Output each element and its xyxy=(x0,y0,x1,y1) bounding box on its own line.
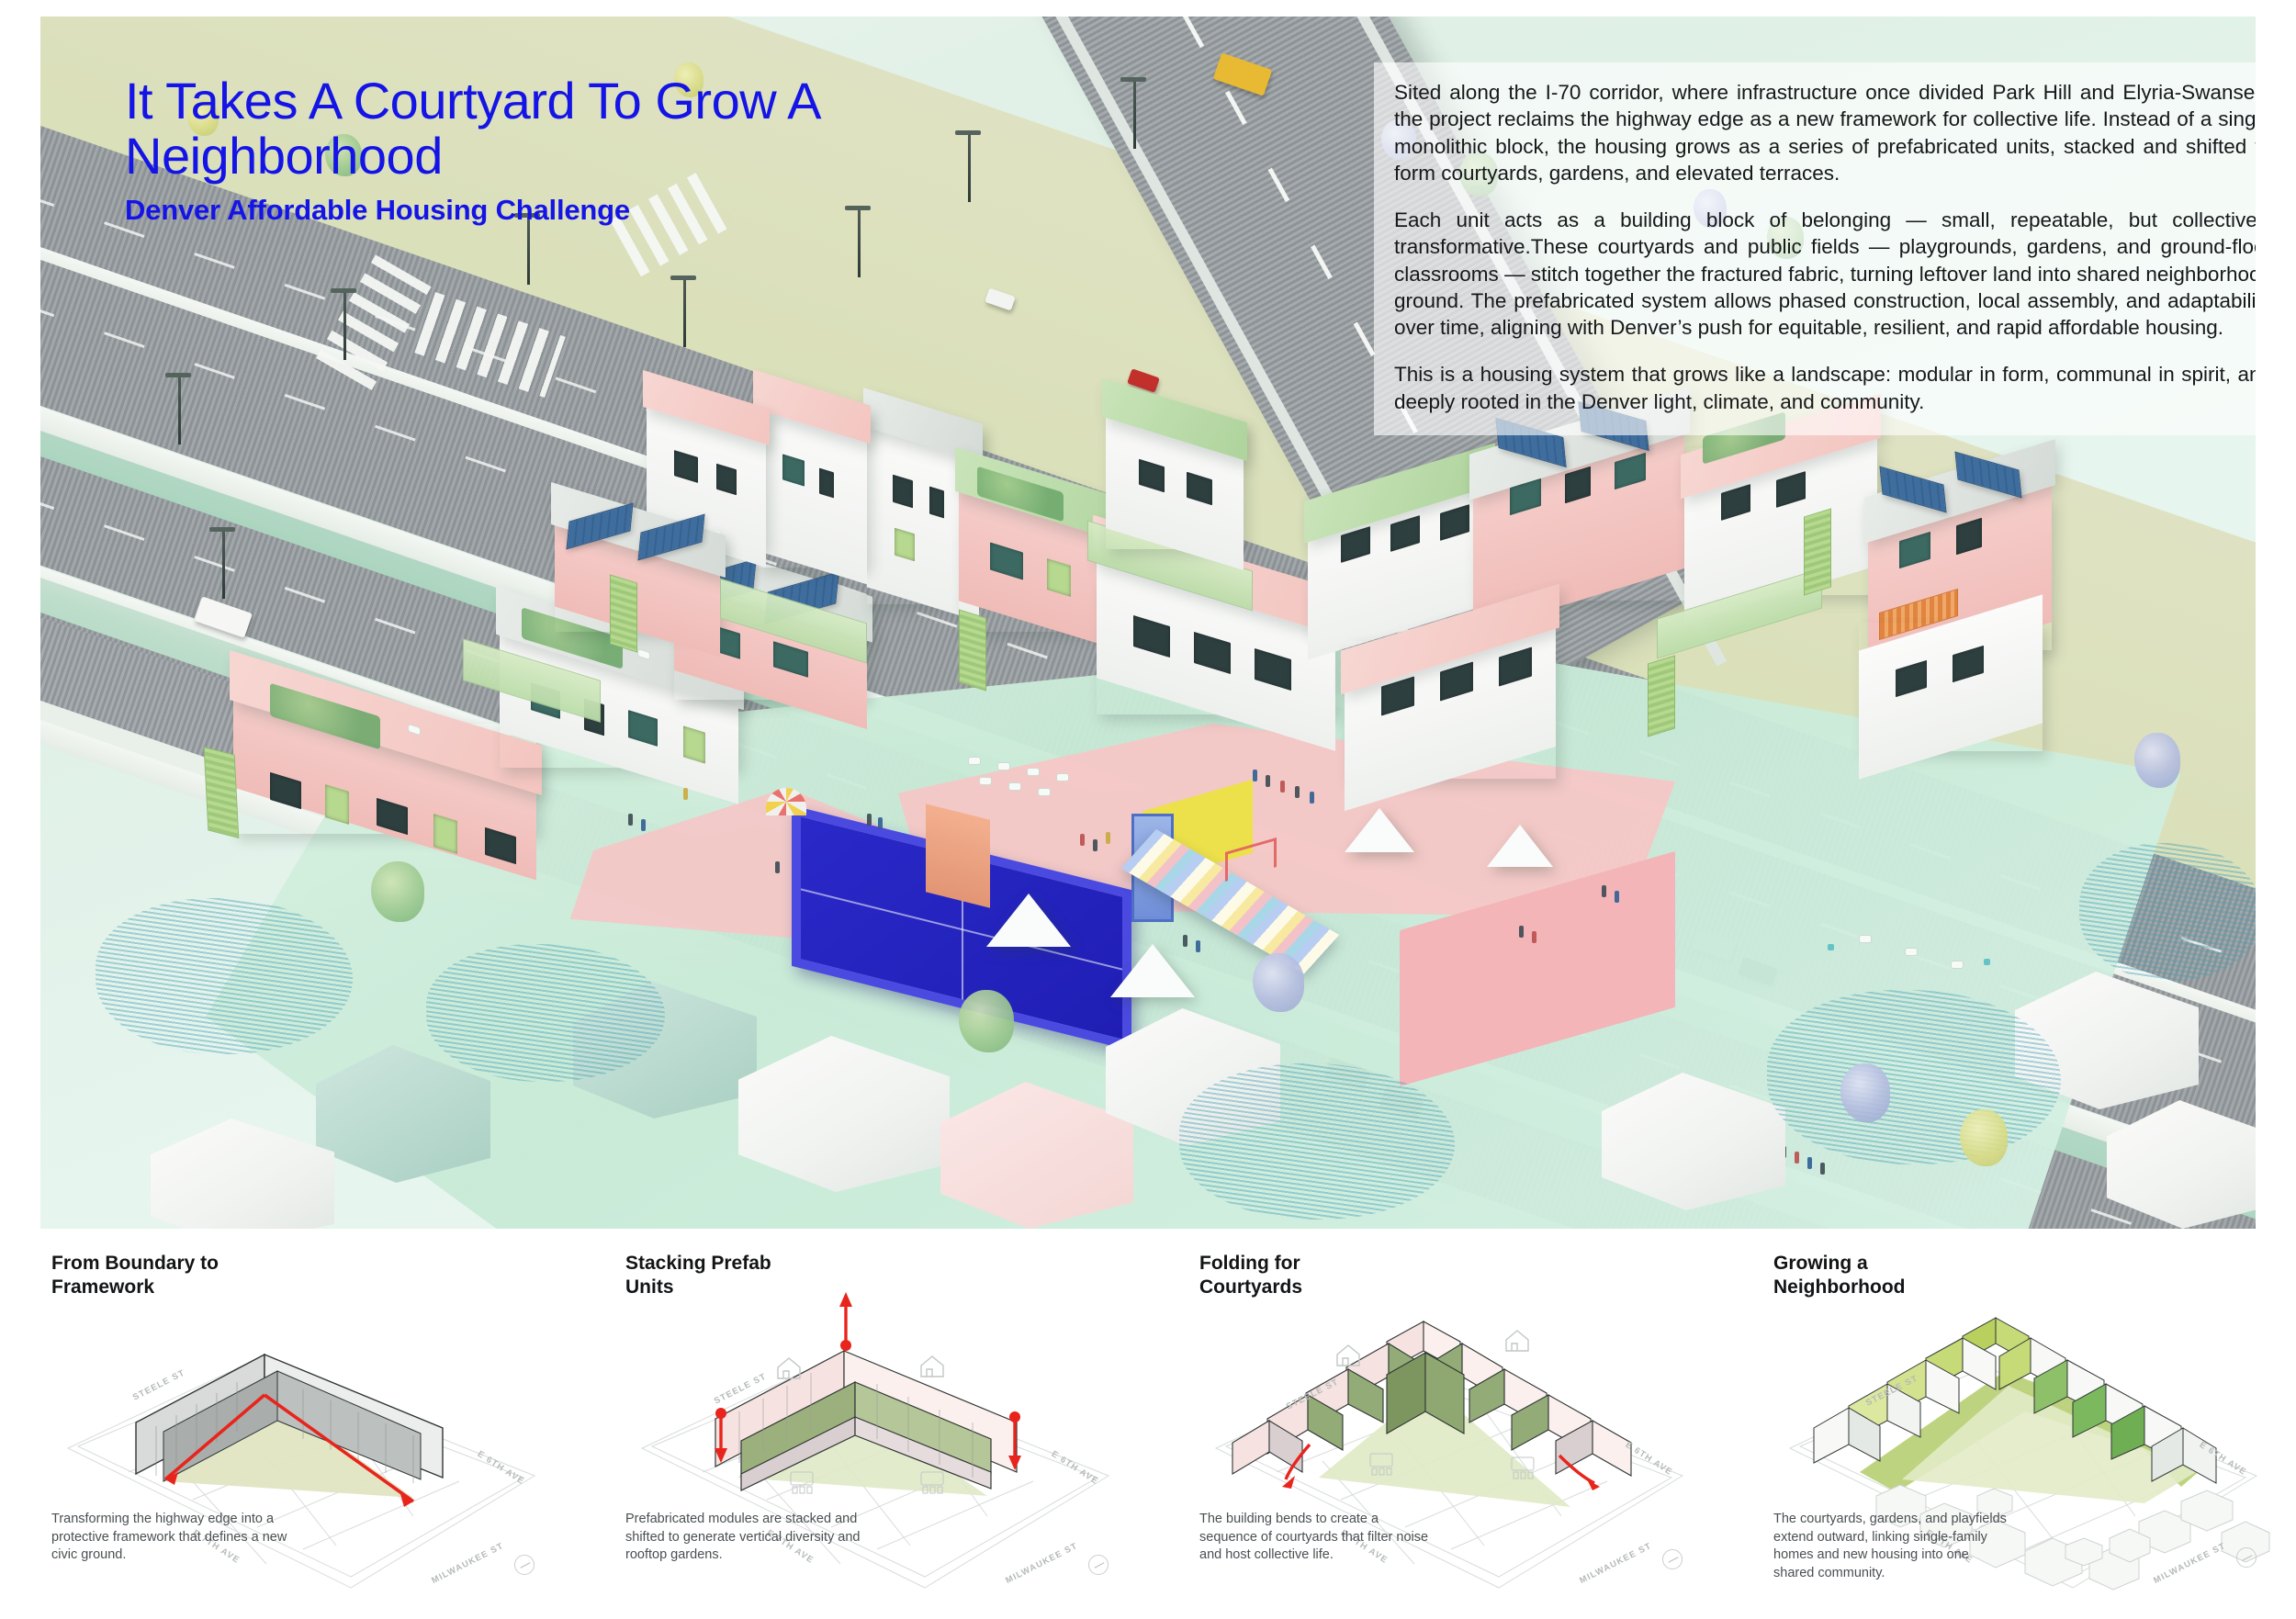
window xyxy=(683,725,705,763)
person xyxy=(1196,940,1200,952)
person xyxy=(1310,792,1314,804)
board-title: It Takes A Courtyard To Grow A Neighborh… xyxy=(125,73,1043,185)
housing-module xyxy=(1859,623,2043,751)
main-rendering: It Takes A Courtyard To Grow A Neighborh… xyxy=(40,17,2256,1229)
person xyxy=(683,788,688,800)
street-light xyxy=(1133,81,1136,149)
person xyxy=(641,819,646,831)
window xyxy=(929,487,944,519)
person xyxy=(1295,786,1300,798)
window xyxy=(893,475,913,509)
description-paragraph-1: Sited along the I-70 corridor, where inf… xyxy=(1394,79,2256,186)
event-tent xyxy=(1487,825,1553,867)
foliage-patch xyxy=(1767,990,2061,1164)
person xyxy=(1820,1163,1825,1175)
tree xyxy=(1840,1063,1890,1122)
event-tent xyxy=(1110,944,1195,997)
outdoor-chair xyxy=(1828,944,1834,950)
street-light xyxy=(343,292,346,360)
diagram-caption: The building bends to create a sequence … xyxy=(1199,1511,1438,1565)
street-light xyxy=(527,217,530,285)
exterior-stair xyxy=(610,574,637,652)
diagram-panel-stacking-prefab-units: Stacking Prefab Units xyxy=(574,1235,1148,1619)
person xyxy=(1106,832,1110,844)
foliage-patch xyxy=(1179,1063,1455,1220)
foliage-patch xyxy=(426,944,665,1082)
person xyxy=(1253,770,1257,781)
orange-volume xyxy=(926,804,990,907)
person xyxy=(1807,1157,1812,1169)
street-light xyxy=(222,531,225,599)
title-line-2: Neighborhood xyxy=(125,127,443,185)
tree xyxy=(1253,953,1304,1012)
person xyxy=(775,861,780,873)
diagram-caption: The courtyards, gardens, and playfields … xyxy=(1773,1511,2012,1582)
person xyxy=(1280,781,1285,793)
diagram-panel-folding-for-courtyards: Folding for Courtyards xyxy=(1148,1235,1722,1619)
person xyxy=(867,814,872,826)
tree xyxy=(2134,733,2180,788)
exterior-stair xyxy=(204,747,240,838)
person xyxy=(628,814,633,826)
person xyxy=(1615,891,1619,903)
diagram-caption: Prefabricated modules are stacked and sh… xyxy=(625,1511,864,1565)
tree xyxy=(959,990,1014,1052)
street-light xyxy=(178,377,181,444)
board-title-block: It Takes A Courtyard To Grow A Neighborh… xyxy=(125,73,1043,227)
person xyxy=(1080,834,1085,846)
exterior-stair xyxy=(1804,508,1831,595)
compass-icon xyxy=(514,1555,535,1575)
person xyxy=(1532,931,1536,943)
event-tent xyxy=(986,894,1071,947)
picnic-table xyxy=(1859,935,1872,943)
title-line-1: It Takes A Courtyard To Grow A xyxy=(125,72,821,129)
tree xyxy=(1960,1109,2008,1166)
concept-diagram-strip: From Boundary to Framework xyxy=(0,1235,2296,1619)
house-icon xyxy=(921,1356,943,1377)
person xyxy=(1519,926,1524,938)
picnic-table xyxy=(979,777,992,785)
project-description-panel: Sited along the I-70 corridor, where inf… xyxy=(1374,62,2256,435)
description-paragraph-3: This is a housing system that grows like… xyxy=(1394,361,2256,415)
board-subtitle: Denver Affordable Housing Challenge xyxy=(125,194,1043,227)
window xyxy=(325,784,349,825)
exterior-stair xyxy=(959,609,986,691)
foliage-patch xyxy=(96,898,353,1054)
window xyxy=(819,468,834,499)
exterior-stair xyxy=(1648,655,1675,736)
diagram-caption: Transforming the highway edge into a pro… xyxy=(51,1511,290,1565)
picnic-table xyxy=(968,757,981,765)
house-icon xyxy=(1506,1331,1528,1351)
window xyxy=(895,528,915,562)
diagram-panel-growing-a-neighborhood: Growing a Neighborhood xyxy=(1722,1235,2296,1619)
compass-icon xyxy=(2236,1547,2257,1568)
tree xyxy=(371,861,424,922)
presentation-board: It Takes A Courtyard To Grow A Neighborh… xyxy=(0,0,2296,1619)
person xyxy=(1602,885,1606,897)
person xyxy=(1795,1152,1799,1164)
picnic-table xyxy=(1027,768,1040,776)
foliage-patch xyxy=(2079,843,2256,981)
picnic-table xyxy=(1038,788,1051,796)
picnic-table xyxy=(997,762,1010,770)
diagram-panel-boundary-to-framework: From Boundary to Framework xyxy=(0,1235,574,1619)
person xyxy=(1093,839,1097,851)
person xyxy=(878,817,883,829)
person xyxy=(1183,935,1187,947)
picnic-table xyxy=(1008,782,1021,791)
picnic-table xyxy=(1951,961,1964,969)
description-paragraph-2: Each unit acts as a building block of be… xyxy=(1394,207,2256,341)
event-tent xyxy=(1345,808,1414,852)
compass-icon xyxy=(1088,1555,1109,1575)
street-light xyxy=(683,279,686,347)
picnic-table xyxy=(1905,948,1918,956)
person xyxy=(1266,775,1270,787)
window xyxy=(433,814,457,854)
outdoor-chair xyxy=(1984,959,1990,965)
compass-icon xyxy=(1662,1549,1683,1569)
picnic-table xyxy=(1056,773,1069,781)
